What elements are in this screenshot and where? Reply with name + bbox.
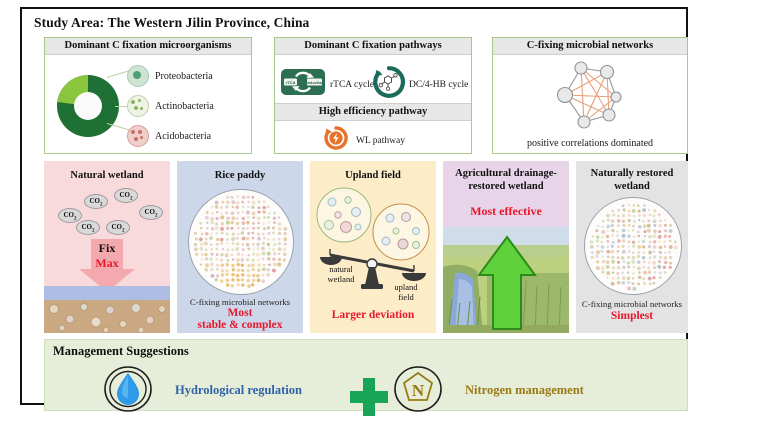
scale-label-natural-wetland: natural wetland xyxy=(314,265,368,284)
natural-wetland-community-circle xyxy=(316,187,372,248)
card-header: C-fixing microbial networks xyxy=(493,38,687,55)
pathway-label: rTCA cycle xyxy=(330,80,374,90)
donut-chart xyxy=(51,69,125,143)
hydrological-regulation-label: Hydrological regulation xyxy=(175,383,302,398)
lightning-cycle-icon xyxy=(323,125,349,156)
plus-icon xyxy=(350,378,388,416)
co2-bubble: CO2 xyxy=(139,205,163,220)
scale-label-upland-field: upland field xyxy=(382,283,430,302)
acidobacteria-icon xyxy=(127,125,149,147)
water-layer xyxy=(44,286,170,300)
graphical-abstract: Study Area: The Western Jilin Province, … xyxy=(0,0,760,427)
nitrogen-management-label: Nitrogen management xyxy=(465,383,584,398)
network-circle-rice-paddy xyxy=(188,189,294,295)
fix-label: Fix xyxy=(44,241,170,256)
legend-item: Actinobacteria xyxy=(127,91,249,121)
card-header: Dominant C fixation pathways xyxy=(275,38,471,55)
page-title: Study Area: The Western Jilin Province, … xyxy=(34,15,309,31)
rtca-reduction-icon: rTCA Reduction xyxy=(281,69,325,100)
panel-title: Natural wetland xyxy=(44,169,170,182)
panel-title-line1: Agricultural drainage- xyxy=(443,167,569,180)
svg-text:N: N xyxy=(412,381,425,400)
card-dominant-c-fixation-pathways: Dominant C fixation pathways rTCA Reduct… xyxy=(274,37,472,154)
management-suggestions-panel: Management Suggestions Hydrological regu… xyxy=(44,339,688,411)
card-dominant-c-fixation-microorganisms: Dominant C fixation microorganisms xyxy=(44,37,252,154)
legend-item: Acidobacteria xyxy=(127,121,249,151)
panel-title-line2: wetland xyxy=(576,180,688,193)
panel-title-line2: restored wetland xyxy=(443,180,569,193)
legend-label: Proteobacteria xyxy=(155,71,213,82)
panel-title-line1: Naturally restored xyxy=(576,167,688,180)
panel-highlight-line2: stable & complex xyxy=(177,319,303,332)
co2-bubble: CO2 xyxy=(106,220,130,235)
pathway-item-rtca: rTCA Reduction rTCA cycle xyxy=(281,69,374,100)
molecule-cycle-icon xyxy=(372,65,406,104)
legend: Proteobacteria Actinobacteria xyxy=(127,61,249,153)
pathway-label: WL pathway xyxy=(356,136,405,146)
pathway-label: DC/4-HB cycle xyxy=(409,80,468,90)
legend-item: Proteobacteria xyxy=(127,61,249,91)
panel-rice-paddy: Rice paddy C-fixing microbial networks M… xyxy=(177,161,303,333)
soil-layer xyxy=(44,300,170,333)
legend-label: Acidobacteria xyxy=(155,131,211,142)
card-header: Dominant C fixation microorganisms xyxy=(45,38,251,55)
panel-caption: C-fixing microbial networks xyxy=(576,299,688,309)
card-c-fixing-microbial-networks: C-fixing microbial networks xyxy=(492,37,688,154)
up-arrow-icon xyxy=(477,235,537,336)
network-caption: positive correlations dominated xyxy=(493,138,687,149)
panel-highlight-line1: Most effective xyxy=(443,205,569,218)
nitrogen-badge-icon[interactable]: N xyxy=(393,366,443,417)
max-label: Max xyxy=(44,256,170,271)
co2-bubble: CO2 xyxy=(84,194,108,209)
panel-highlight-line1: Simplest xyxy=(576,310,688,323)
co2-bubble: CO2 xyxy=(58,208,82,223)
sub-header-high-efficiency: High efficiency pathway xyxy=(275,103,471,121)
panel-title: Upland field xyxy=(310,169,436,182)
svg-text:rTCA: rTCA xyxy=(286,81,296,85)
network-graph-icon xyxy=(551,59,629,136)
legend-label: Actinobacteria xyxy=(155,101,214,112)
network-circle-naturally-restored xyxy=(584,197,682,295)
co2-bubble: CO2 xyxy=(76,220,100,235)
panel-highlight-line1: Larger deviation xyxy=(310,309,436,322)
panel-natural-wetland: Natural wetland CO2 CO2 CO2 CO2 CO2 CO2 … xyxy=(44,161,170,333)
abstract-frame: Study Area: The Western Jilin Province, … xyxy=(20,7,688,405)
water-drop-icon[interactable] xyxy=(103,366,153,417)
panel-title: Rice paddy xyxy=(177,169,303,182)
panel-agricultural-drainage-restored-wetland: Agricultural drainage- restored wetland … xyxy=(443,161,569,333)
actinobacteria-icon xyxy=(127,95,149,117)
pathway-item-wl: WL pathway xyxy=(323,125,405,156)
svg-text:Reduction: Reduction xyxy=(305,81,324,85)
panel-naturally-restored-wetland: Naturally restored wetland C-fixing micr… xyxy=(576,161,688,333)
panel-caption: C-fixing microbial networks xyxy=(177,297,303,307)
panel-upland-field: Upland field xyxy=(310,161,436,333)
section-title: Management Suggestions xyxy=(53,344,189,359)
co2-bubble: CO2 xyxy=(114,188,138,203)
proteobacteria-icon xyxy=(127,65,149,87)
pathway-item-dc4hb: DC/4-HB cycle xyxy=(372,65,468,104)
